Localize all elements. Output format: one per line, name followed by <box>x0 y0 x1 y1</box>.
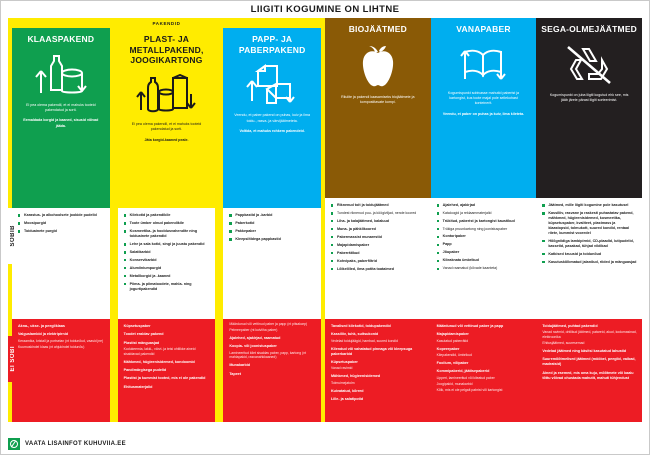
glass-bottle-jar-recycle-icon <box>32 53 90 97</box>
list-item: Lehe ja sala kotid, singi ja juustu pake… <box>124 242 211 247</box>
header-klaaspakend: KLAASPAKEND Ei pea olema pakendil, et ei… <box>12 28 110 208</box>
list-item: Küpsetuspaber <box>124 324 211 329</box>
eisobi-list-vanapaber: Määrdunud või vettinud paber ja papp Maj… <box>437 324 532 392</box>
list-item: Hõõgniidiga lambipirnid, CD-plaadid, lut… <box>542 239 637 249</box>
list-item: Pappkastid ja -karbid <box>229 213 316 218</box>
blurb-segaolme: Kogumispunkt on juba liigiti kogutud ehk… <box>540 93 638 109</box>
list-item: Kassiliiv, rasvane ja raskesti puhastata… <box>542 211 637 236</box>
list-item: Piima- ja piimatoodete, mahla- ning jogu… <box>124 282 211 292</box>
list-item: Kassiliiv, tuhk, suitsukonid <box>331 332 426 337</box>
list-item: Trükiga pruunkartong ning joonistuspaber <box>437 227 532 232</box>
blurb-line-1: Ei pea olema pakendil, et ei mahuks toot… <box>22 103 100 114</box>
blurb-plast-metall: Ei pea olema pakendil, et ei mahuks toot… <box>122 122 212 143</box>
list-item: Karastus- ja alkohoolsete jookide pudeli… <box>18 213 105 218</box>
eisobi-klaaspakend: Akna-, ukse- ja peegliklaas Valguslambid… <box>12 319 110 422</box>
list-item: Vanad ravimid, ohtlikud jäätmed, patarei… <box>542 330 637 339</box>
list-item: Kodukeemia, lakki-, värvi- ja teisi ohtl… <box>124 347 211 356</box>
list-item: Ajalehed, ajakirjad, raamatud <box>229 336 316 341</box>
column-biojaatmed[interactable]: BIOJÄÄTMED Riiulite ja pakendi kaasamise… <box>325 18 431 422</box>
no-recycle-crossed-icon <box>564 43 614 87</box>
list-item: Salatikarbid <box>124 250 211 255</box>
list-item: Koopia- või joonistuspaber <box>229 344 316 349</box>
list-item: Pabermassist munarestid <box>331 235 426 240</box>
list-item: Vanad raamatud (kõvade kaanteta) <box>437 266 532 271</box>
list-item: Plastist mänguasjad <box>124 341 211 346</box>
list-item: Majapidamispaber <box>437 332 532 337</box>
blurb-line-2: Voltida, et mahuks rohkem pakendeid. <box>233 129 311 134</box>
list-item: Majapidamispaber <box>331 243 426 248</box>
list-item: Tavalised kilekotid, toidupakendid <box>331 324 426 329</box>
category-title-segaolme: SEGA-OLMEJÄÄTMED <box>541 24 637 35</box>
list-item: Tolmuimejatolm <box>331 381 426 386</box>
list-item: Trükitud, paberist ja kartongist kaustik… <box>437 219 532 224</box>
blurb-line-2: Veendu, et paber on puhas ja kuiv, ilma … <box>441 112 527 117</box>
logo-ring <box>10 440 18 448</box>
category-board: PAKENDID SOBIB EI SOBI KLAASPAKEND <box>8 18 642 422</box>
eisobi-list-segaolme: Toidujäätmed, puhtad pakendid Vanad ravi… <box>542 324 637 381</box>
list-item: Katkised kruusid ja toidunõud <box>542 252 637 257</box>
sobib-list-klaaspakend: Karastus- ja alkohoolsete jookide pudeli… <box>18 213 105 234</box>
header-biojaatmed: BIOJÄÄTMED Riiulite ja pakendi kaasamise… <box>325 18 431 198</box>
list-item: Kommipaberid, jäätisepaberid <box>437 369 532 374</box>
sobib-klaaspakend: Karastus- ja alkohoolsete jookide pudeli… <box>12 208 110 319</box>
list-item: Lamineeritud kilet sisaldav paber, papp,… <box>229 351 316 360</box>
category-title-plast-metall: PLAST- JA METALLPAKEND, JOOGIKARTONG <box>122 34 212 66</box>
sobib-list-papp-paber: Pappkastid ja -karbid Paberkotid Pakkepa… <box>229 213 316 242</box>
list-item: Kasutatud paberrätid <box>437 339 532 344</box>
list-item: Küpsetuspaber <box>331 360 426 365</box>
list-item: Kõik, mis ei ole pelgalt pabrist või kar… <box>437 388 532 393</box>
list-item: Ajalehed, ajakirjad <box>437 203 532 208</box>
list-item: Kilekotid ja pakendikile <box>124 213 211 218</box>
list-item: Liha- ja kalajäätmed, kalaluud <box>331 219 426 224</box>
open-book-recycle-icon <box>456 43 510 85</box>
blurb-line-2: Jäta korgid-kaaned peale. <box>128 138 206 143</box>
header-segaolme: SEGA-OLMEJÄÄTMED Kogumispunkt on juba li… <box>536 18 642 198</box>
list-item: Vedelad jäätmed ning käsitsi kasutatud l… <box>542 349 637 354</box>
list-item: Lõikelilled, ilma potita toataimed <box>331 267 426 272</box>
blurb-line-1: Ei pea olema pakendil, et ei mahuks toot… <box>128 122 206 133</box>
blurb-vanapaber: Kogumispunkt sobivasse mahutid paberist … <box>435 91 533 118</box>
eisobi-plast-metall: Küpsetuspaber Toodet eraldav pakend Plas… <box>118 319 216 422</box>
eisobi-segaolme: Toidujäätmed, puhtad pakendid Vanad ravi… <box>536 319 642 422</box>
category-title-klaaspakend: KLAASPAKEND <box>27 34 94 45</box>
list-item: Määrdunud või vettinud paber ja papp (nt… <box>229 322 316 327</box>
list-item: Toiduainete purgid <box>18 229 105 234</box>
list-item: Toodet eraldav pakend <box>124 332 211 337</box>
category-title-biojaatmed: BIOJÄÄTMED <box>349 24 407 35</box>
list-item: Kilepakendid, ümbrikud <box>437 353 532 358</box>
list-item: Suuremõõtmelised jäätmed (mööbel, peegli… <box>542 357 637 367</box>
list-item: Kopeerpaber <box>437 347 532 352</box>
rail-sobib-text: SOBIB <box>10 225 16 247</box>
list-item: Ained ja esemed, mis oma kuju, mõõtmete … <box>542 371 637 381</box>
list-item: Muna- ja pähklikoored <box>331 227 426 232</box>
page-title: LIIGITI KOGUMINE ON LIHTNE <box>0 0 650 18</box>
sobib-list-plast-metall: Kilekotid ja pakendikile Toote ümber oln… <box>124 213 211 292</box>
blurb-klaaspakend: Ei pea olema pakendil, et ei mahuks toot… <box>16 103 106 130</box>
list-item: Kuumuskindel klaas (nt ahjukindel toidun… <box>18 345 105 350</box>
eisobi-biojaatmed: Tavalised kilekotid, toidupakendid Kassi… <box>325 319 431 422</box>
list-item: Papp <box>437 242 532 247</box>
list-item: Pakkepaber <box>229 229 316 234</box>
rail-label-sobib: SOBIB <box>8 208 17 264</box>
list-item: Kontoripaber <box>437 234 532 239</box>
header-plast-metall: PLAST- JA METALLPAKEND, JOOGIKARTONG <box>118 28 216 208</box>
list-item: Tundest riknenud puu- ja köögiviljad, ne… <box>331 211 426 216</box>
blurb-line-2: Eemaldada korgid ja kaaned, sisusid võiv… <box>22 118 100 129</box>
list-item: Kileaknata ümbrikud <box>437 258 532 263</box>
sobib-biojaatmed: Riknenud toit ja toidujäätmed Tundest ri… <box>325 198 431 319</box>
list-item: Toidujäätmed, puhtad pakendid <box>542 324 637 329</box>
blurb-line-1: Kogumispunkt sobivasse mahutid paberist … <box>441 91 527 107</box>
list-item: Keraamika, kristall ja portselan (nt toi… <box>18 339 105 344</box>
column-klaaspakend[interactable]: KLAASPAKEND Ei pea olema pakendil, et ei… <box>8 18 114 422</box>
list-item: Pandimärgisega pudelid <box>124 368 211 373</box>
sobib-list-biojaatmed: Riknenud toit ja toidujäätmed Tundest ri… <box>331 203 426 272</box>
eisobi-list-biojaatmed: Tavalised kilekotid, toidupakendid Kassi… <box>331 324 426 402</box>
list-item: Munakarbid <box>229 363 316 368</box>
blurb-line-1: Veendu, et paber pakend on puhas, kuiv j… <box>233 113 311 124</box>
list-item: Valguslambid ja elektripirnid <box>18 332 105 337</box>
list-item: Lipperi, lamineeritud või kileatud paber <box>437 376 532 381</box>
blurb-biojaatmed: Riiulite ja pakendi kaasamiseks biojäätm… <box>329 95 427 111</box>
footer-label[interactable]: VAATA LISAINFOT KUHUVIIA.EE <box>25 441 126 447</box>
list-item: Foolium, võipaber <box>437 361 532 366</box>
eisobi-vanapaber: Määrdunud või vettinud paber ja papp Maj… <box>431 319 537 422</box>
list-item: Ehitusmaterjalid <box>124 385 211 390</box>
blurb-line-1: Riiulite ja pakendi kaasamiseks biojäätm… <box>335 95 421 106</box>
list-item: Akna-, ukse- ja peegliklaas <box>18 324 105 329</box>
column-papp-paber[interactable]: PAPP- JA PABERPAKEND Vee <box>219 18 325 422</box>
list-item: Kohvipaks, paberfiltrid <box>331 259 426 264</box>
list-item: Kleepsiltidega pappkastid <box>229 237 316 242</box>
sobib-vanapaber: Ajalehed, ajakirjad Kataloogid ja reklaa… <box>431 198 537 319</box>
list-item: Mähkmed, hügieenisidemed, kondoomid <box>124 360 211 365</box>
list-item: Mähkmed, hügieenisidemed <box>331 374 426 379</box>
category-title-vanapaber: VANAPABER <box>456 24 510 35</box>
apple-core-bio-icon <box>355 43 401 89</box>
blurb-line-1: Kogumispunkt on juba liigiti kogutud ehk… <box>546 93 632 104</box>
sobib-list-vanapaber: Ajalehed, ajakirjad Kataloogid ja reklaa… <box>437 203 532 271</box>
footer[interactable]: VAATA LISAINFOT KUHUVIIA.EE <box>8 436 126 452</box>
list-item: Joogipakid, munakarbid <box>437 382 532 387</box>
list-item: Konservikarbid <box>124 258 211 263</box>
list-item: Plastist ja kummist tooted, mis ei ole p… <box>124 376 211 381</box>
eisobi-list-plast-metall: Küpsetuspaber Toodet eraldav pakend Plas… <box>124 324 211 390</box>
list-item: Lille- ja salatipotid <box>331 397 426 402</box>
blurb-papp-paber: Veendu, et paber pakend on puhas, kuiv j… <box>227 113 317 134</box>
list-item: Määrdunud või vettinud paber ja papp <box>437 324 532 329</box>
list-item: Paberkotid <box>229 221 316 226</box>
list-item: Moosipurgid <box>18 221 105 226</box>
category-columns: KLAASPAKEND Ei pea olema pakendil, et ei… <box>8 18 642 422</box>
column-segaolme[interactable]: SEGA-OLMEJÄÄTMED Kogumispunkt on juba li… <box>536 18 642 422</box>
column-vanapaber[interactable]: VANAPABER Kogumispunkt sobivasse mahutid… <box>431 18 537 422</box>
list-item: Tapeet <box>229 372 316 377</box>
list-item: Jõupaber <box>437 250 532 255</box>
list-item: Kataloogid ja reklaammaterjalid <box>437 211 532 216</box>
recycling-poster: LIIGITI KOGUMINE ON LIHTNE PAKENDID SOBI… <box>0 0 650 455</box>
eisobi-list-klaaspakend: Akna-, ukse- ja peegliklaas Valguslambid… <box>18 324 105 349</box>
eisobi-papp-paber: Määrdunud või vettinud paber ja papp (nt… <box>223 319 321 422</box>
list-item: Kasutuskõlbmatud jalanõud, riided ja män… <box>542 260 637 265</box>
list-item: Kuivatatud, kõrred <box>331 389 426 394</box>
kuhuviia-logo-icon <box>8 438 20 450</box>
sobib-papp-paber: Pappkastid ja -karbid Paberkotid Pakkepa… <box>223 208 321 319</box>
list-item: Kosmeetika- ja hooldusvahendite ning toi… <box>124 229 211 239</box>
eisobi-list-papp-paber: Määrdunud või vettinud paber ja papp (nt… <box>229 322 316 377</box>
header-vanapaber: VANAPABER Kogumispunkt sobivasse mahutid… <box>431 18 537 198</box>
rail-label-eisobi: EI SOBI <box>8 336 17 382</box>
list-item: Jäätmed, mille liigiti kogumine pole kas… <box>542 203 637 208</box>
column-plast-metall[interactable]: PLAST- JA METALLPAKEND, JOOGIKARTONG <box>114 18 220 422</box>
list-item: Alumiiniumpurgid <box>124 266 211 271</box>
sobib-segaolme: Jäätmed, mille liigiti kogumine pole kas… <box>536 198 642 319</box>
plastic-metal-carton-recycle-icon <box>135 74 197 116</box>
list-item: Metallkorgid ja -kaaned <box>124 274 211 279</box>
header-papp-paber: PAPP- JA PABERPAKEND Vee <box>223 28 321 208</box>
list-item: Paberrätikud <box>331 251 426 256</box>
list-item: Toote ümber olnud pakendikile <box>124 221 211 226</box>
cardboard-box-recycle-icon <box>243 63 301 107</box>
list-item: Vedelad toidujäägid, hambad, suured kond… <box>331 339 426 344</box>
packaging-group-banner: PAKENDID <box>8 18 325 28</box>
list-item: Vanad ravimid <box>331 366 426 371</box>
list-item: Kilendud või vahatatud pinnaga või kleep… <box>331 347 426 357</box>
list-item: Pelmeepaber (nt kuivliha paber) <box>229 328 316 333</box>
sobib-list-segaolme: Jäätmed, mille liigiti kogumine pole kas… <box>542 203 637 265</box>
list-item: Riknenud toit ja toidujäätmed <box>331 203 426 208</box>
category-title-papp-paber: PAPP- JA PABERPAKEND <box>227 34 317 55</box>
sobib-plast-metall: Kilekotid ja pakendikile Toote ümber oln… <box>118 208 216 319</box>
list-item: Ehitusjäätmed, suuresemad <box>542 341 637 346</box>
rail-eisobi-text: EI SOBI <box>10 346 16 372</box>
